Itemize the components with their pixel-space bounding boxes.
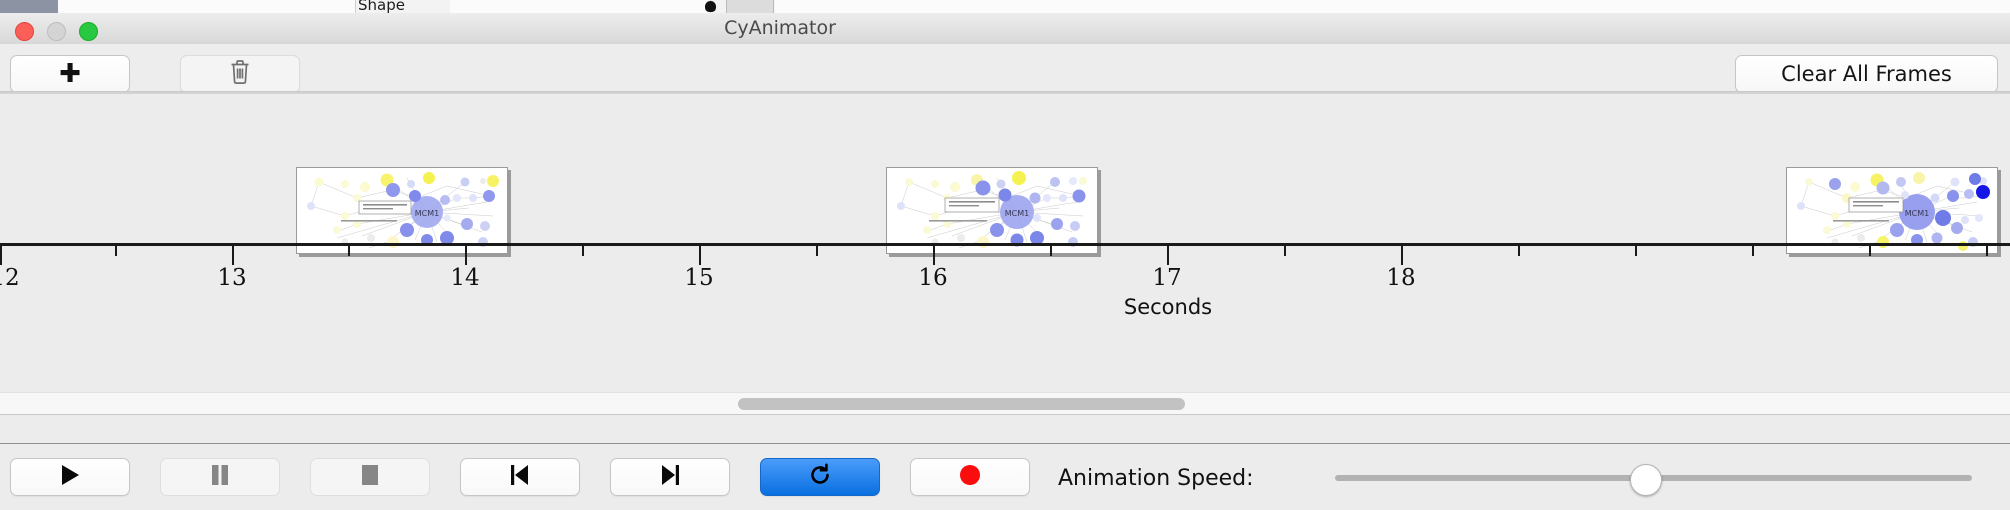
window-title: CyAnimator [0,13,1560,44]
ruler-label: 18 [1386,265,1415,291]
animation-speed-label: Animation Speed: [1058,466,1254,491]
ruler-tick-minor [1284,245,1286,256]
loop-button[interactable] [760,458,880,496]
animation-speed-slider-thumb[interactable] [1630,464,1662,496]
ruler-tick-major [1401,245,1403,265]
pause-icon [210,464,230,490]
previous-button[interactable] [460,458,580,496]
ruler-label: 17 [1152,265,1181,291]
background-window-label: Shape [358,0,405,14]
trash-icon [229,59,251,89]
background-window-strip: Shape [0,0,2010,14]
ruler-label: 16 [918,265,947,291]
frame-thumbnail[interactable]: MCM1 [886,167,1098,254]
ruler-tick-minor [1050,245,1052,256]
loop-icon [808,463,832,491]
next-icon [659,464,681,490]
svg-text:MCM1: MCM1 [1005,209,1029,218]
cyanimator-window: Shape CyAnimator ✚ Clear All Frames [0,0,2010,510]
svg-text:MCM1: MCM1 [415,209,439,218]
ruler-tick-major [232,245,234,265]
ruler-tick-major [1167,245,1169,265]
toolbar [0,44,2010,91]
stop-button[interactable] [310,458,430,496]
timeline-ruler [0,243,2010,246]
axis-title: Seconds [0,295,2010,319]
play-button[interactable] [10,458,130,496]
clear-all-frames-button[interactable]: Clear All Frames [1735,55,1998,93]
delete-frame-button[interactable] [180,55,300,93]
ruler-tick-minor [348,245,350,256]
ruler-tick-minor [1752,245,1754,256]
clear-all-frames-label: Clear All Frames [1781,62,1952,86]
timeline-scrollbar-thumb[interactable] [738,398,1185,410]
play-icon [60,464,80,490]
axis-title-text: Seconds [1124,295,1212,319]
record-button[interactable] [910,458,1030,496]
ruler-tick-major [465,245,467,265]
ruler-tick-minor [115,245,117,256]
ruler-label: 14 [450,265,479,291]
ruler-tick-major [699,245,701,265]
ruler-tick-major [933,245,935,265]
title-bar: CyAnimator [0,13,2010,45]
ruler-tick-minor [1869,245,1871,256]
frame-thumbnail[interactable]: MCM1 [296,167,508,254]
playback-control-bar: Animation Speed: [0,443,2010,510]
pause-button[interactable] [160,458,280,496]
ruler-label: 12 [0,265,20,291]
timeline-panel[interactable]: MCM1 [0,91,2010,415]
frame-thumbnail[interactable]: MCM1 [1786,167,1998,254]
record-icon [958,463,982,491]
timeline-top-divider [0,92,2010,94]
ruler-tick-major [0,245,2,265]
ruler-label: 13 [217,265,246,291]
stop-icon [360,464,380,490]
plus-icon: ✚ [59,61,81,87]
svg-text:MCM1: MCM1 [1905,209,1929,218]
timeline-scrollbar[interactable] [0,392,2010,415]
ruler-tick-minor [1986,245,1988,256]
add-frame-button[interactable]: ✚ [10,55,130,93]
previous-icon [509,464,531,490]
ruler-tick-minor [816,245,818,256]
ruler-label: 15 [684,265,713,291]
ruler-tick-minor [1518,245,1520,256]
ruler-tick-minor [582,245,584,256]
ruler-tick-minor [1635,245,1637,256]
next-button[interactable] [610,458,730,496]
